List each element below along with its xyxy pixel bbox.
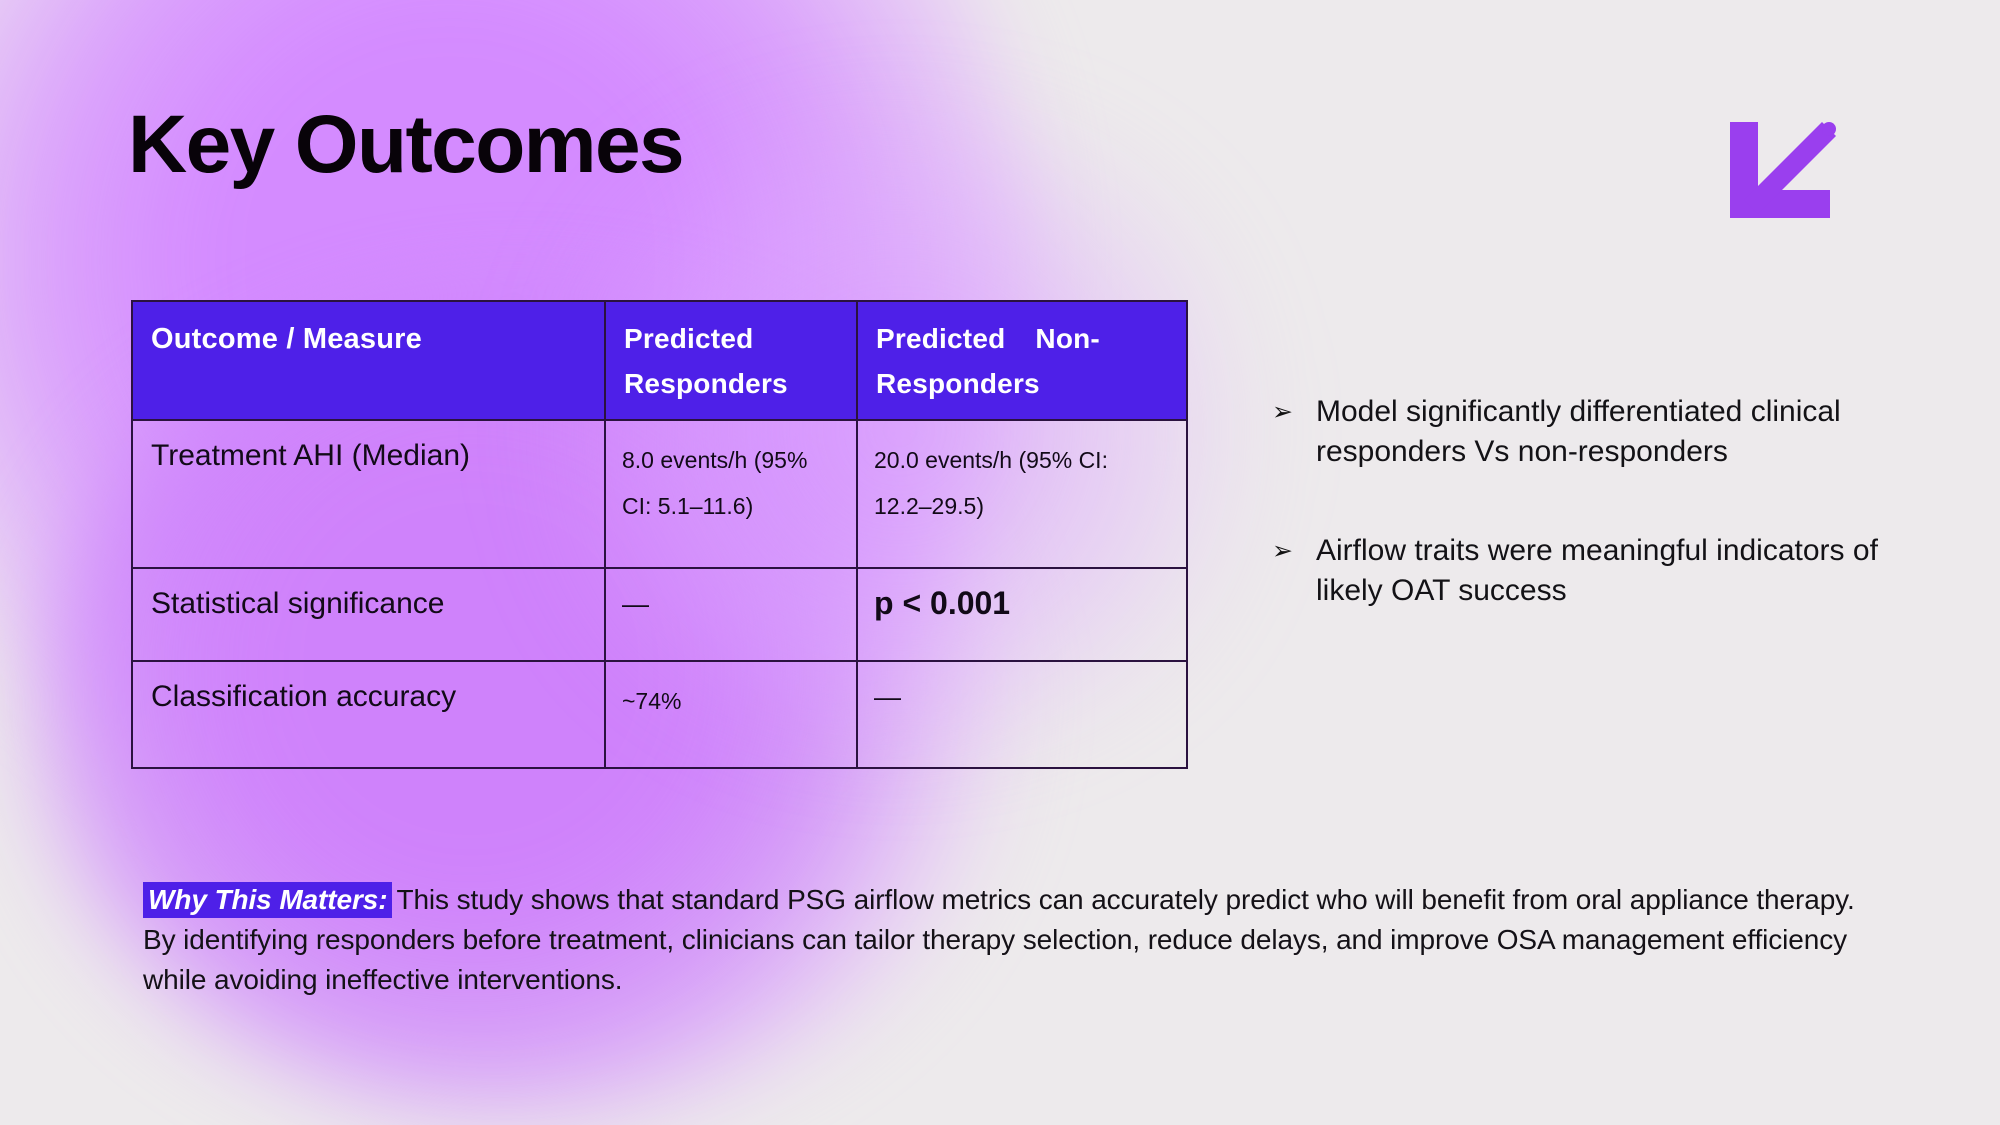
column-header-responders-line2: Responders — [624, 368, 788, 399]
table-row: Classification accuracy ~74% — — [132, 661, 1187, 768]
cell-treatment-ahi-non-responders: 20.0 events/h (95% CI: 12.2–29.5) — [857, 420, 1187, 568]
list-item: ➢ Model significantly differentiated cli… — [1272, 392, 1882, 471]
column-header-responders: Predicted Responders — [605, 301, 857, 420]
chevron-right-bullet-icon: ➢ — [1272, 531, 1294, 564]
chevron-right-bullet-icon: ➢ — [1272, 392, 1294, 425]
cell-statistical-significance-responders: — — [605, 568, 857, 661]
cell-classification-accuracy-non-responders: — — [857, 661, 1187, 768]
table-body: Treatment AHI (Median) 8.0 events/h (95%… — [132, 420, 1187, 768]
outcomes-table: Outcome / Measure Predicted Responders P… — [131, 300, 1188, 769]
key-takeaways-list: ➢ Model significantly differentiated cli… — [1272, 392, 1882, 670]
why-this-matters-label: Why This Matters: — [143, 882, 392, 918]
cell-treatment-ahi-responders: 8.0 events/h (95% CI: 5.1–11.6) — [605, 420, 857, 568]
cell-statistical-significance-non-responders: p < 0.001 — [857, 568, 1187, 661]
bullet-text-airflow-traits: Airflow traits were meaningful indicator… — [1316, 531, 1882, 610]
arrow-down-left-icon — [1718, 116, 1838, 228]
table-row: Statistical significance — p < 0.001 — [132, 568, 1187, 661]
row-label-statistical-significance: Statistical significance — [132, 568, 605, 661]
column-header-responders-line1: Predicted — [624, 323, 753, 354]
why-this-matters-note: Why This Matters:This study shows that s… — [143, 880, 1883, 999]
table-row: Treatment AHI (Median) 8.0 events/h (95%… — [132, 420, 1187, 568]
column-header-non-responders-line1a: Predicted — [876, 316, 1005, 361]
why-this-matters-text: This study shows that standard PSG airfl… — [143, 884, 1855, 995]
page-title: Key Outcomes — [128, 104, 683, 186]
row-label-classification-accuracy: Classification accuracy — [132, 661, 605, 768]
column-header-non-responders-line2: Responders — [876, 361, 1040, 406]
list-item: ➢ Airflow traits were meaningful indicat… — [1272, 531, 1882, 610]
bullet-text-model-differentiation: Model significantly differentiated clini… — [1316, 392, 1882, 471]
slide-canvas: Key Outcomes Outcome / Measure Predicted… — [0, 0, 2000, 1125]
table-header-row: Outcome / Measure Predicted Responders P… — [132, 301, 1187, 420]
cell-classification-accuracy-responders: ~74% — [605, 661, 857, 768]
column-header-non-responders: PredictedNon- Responders — [857, 301, 1187, 420]
slide-content: Key Outcomes Outcome / Measure Predicted… — [0, 0, 2000, 1125]
column-header-non-responders-line1b: Non- — [1035, 316, 1100, 361]
table-head: Outcome / Measure Predicted Responders P… — [132, 301, 1187, 420]
row-label-treatment-ahi: Treatment AHI (Median) — [132, 420, 605, 568]
column-header-outcome: Outcome / Measure — [132, 301, 605, 420]
